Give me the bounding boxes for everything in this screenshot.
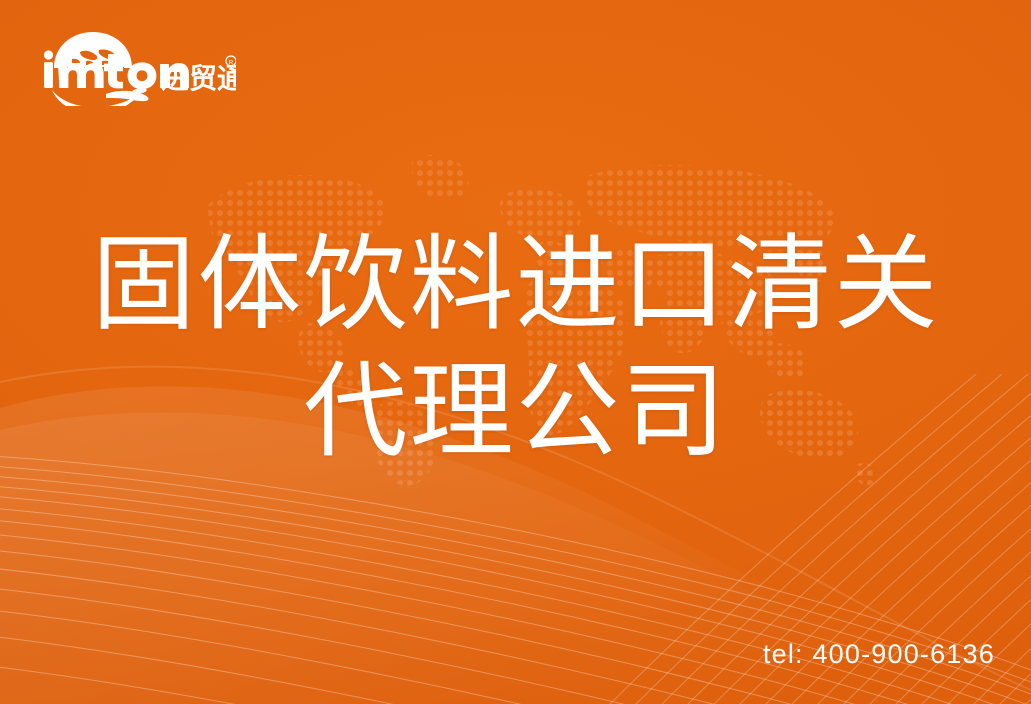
swoosh-arrow-icon xyxy=(52,88,149,106)
wordmark-chinese: 进贸通 xyxy=(161,62,236,95)
page-title: 固体饮料进口清关 代理公司 xyxy=(0,222,1031,476)
page-title-line-2: 代理公司 xyxy=(0,349,1031,476)
svg-text:R: R xyxy=(229,59,234,66)
page-title-line-1: 固体饮料进口清关 xyxy=(0,222,1031,349)
banner-root: 进贸通 R 固体饮料进口清关 代理公司 tel: 400-900-6136 xyxy=(0,0,1031,704)
imton-logo[interactable]: 进贸通 R xyxy=(36,28,236,106)
svg-text:进贸通: 进贸通 xyxy=(161,62,236,95)
globe-icon xyxy=(54,32,132,68)
telephone-text: tel: 400-900-6136 xyxy=(763,639,995,670)
